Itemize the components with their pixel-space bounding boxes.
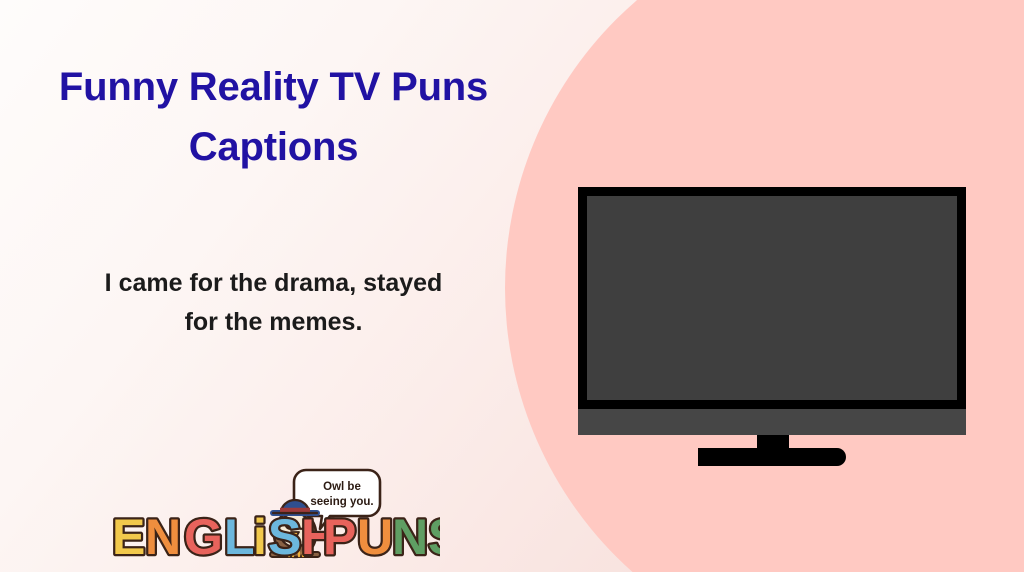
logo-letter-u: U <box>357 509 393 562</box>
tv-stand-base <box>698 448 846 466</box>
logo-letter-p: P <box>323 509 356 562</box>
logo-wordmark: E N G L i S H P U N S <box>112 509 440 562</box>
svg-text:seeing you.: seeing you. <box>310 496 373 508</box>
tv-screen-sheen <box>587 196 957 400</box>
tv-base-bar <box>578 409 966 435</box>
logo-letter-n2: N <box>392 509 428 562</box>
page-title: Funny Reality TV Puns Captions <box>16 57 531 177</box>
svg-text:Owl be: Owl be <box>323 481 361 493</box>
tv-frame <box>578 187 966 409</box>
logo-letter-e: E <box>112 509 145 562</box>
logo-letter-n1: N <box>145 509 181 562</box>
logo-letter-g: G <box>184 509 223 562</box>
pun-caption-text: I came for the drama, stayed for the mem… <box>36 264 511 342</box>
logo-letter-l: L <box>224 509 255 562</box>
logo-letter-i: i <box>253 509 267 562</box>
television-illustration <box>578 187 966 463</box>
english-puns-logo[interactable]: Owl be seeing you. <box>110 466 440 562</box>
logo-letter-s1: S <box>268 509 301 562</box>
logo-letter-s2: S <box>428 509 440 562</box>
poster-canvas: Funny Reality TV Puns Captions I came fo… <box>0 0 1024 572</box>
tv-screen <box>587 196 957 400</box>
